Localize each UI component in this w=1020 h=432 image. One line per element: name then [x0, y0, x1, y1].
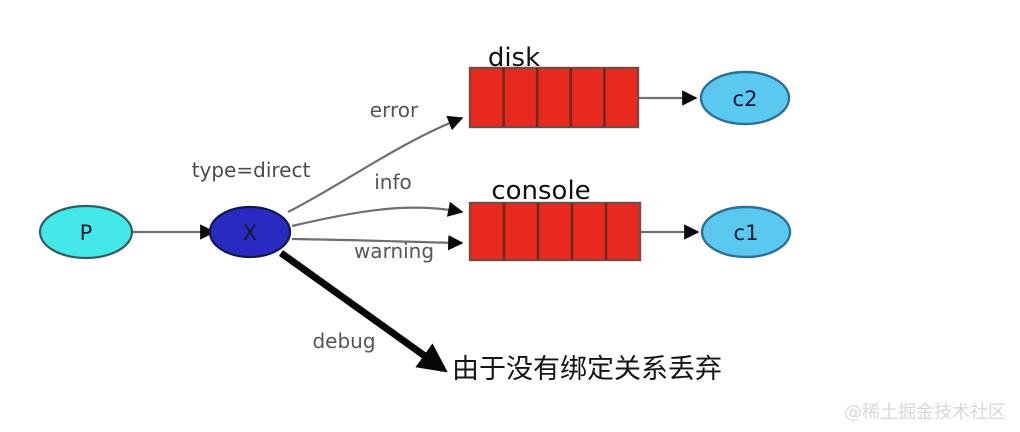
diagram-canvas: disk console P X c2 c1 [0, 0, 1020, 432]
edge-label-info: info [374, 170, 412, 194]
producer-node: P [40, 206, 132, 258]
exchange-node: X [210, 207, 290, 257]
watermark: @稀土掘金技术社区 [844, 402, 1006, 423]
edge-label-warning: warning [354, 239, 434, 263]
producer-label: P [80, 221, 93, 245]
direct-exchange-diagram: disk console P X c2 c1 [0, 0, 1020, 432]
edge-label-error: error [370, 98, 419, 122]
queue-console: console [470, 176, 640, 260]
queue-disk-body [470, 68, 638, 127]
consumer-c2-node: c2 [701, 72, 789, 124]
queue-disk-title: disk [488, 43, 540, 73]
discard-note: 由于没有绑定关系丢弃 [452, 354, 722, 385]
edge-label-debug: debug [312, 329, 375, 353]
consumer-c1-label: c1 [734, 221, 759, 245]
consumer-c1-node: c1 [702, 207, 790, 257]
queue-console-title: console [491, 176, 590, 206]
edge-error [288, 118, 462, 212]
exchange-label: X [243, 221, 257, 245]
queue-disk: disk [470, 43, 638, 127]
exchange-type-label: type=direct [192, 158, 311, 182]
edge-info [292, 208, 462, 226]
queue-console-body [470, 203, 640, 260]
consumer-c2-label: c2 [733, 87, 758, 111]
